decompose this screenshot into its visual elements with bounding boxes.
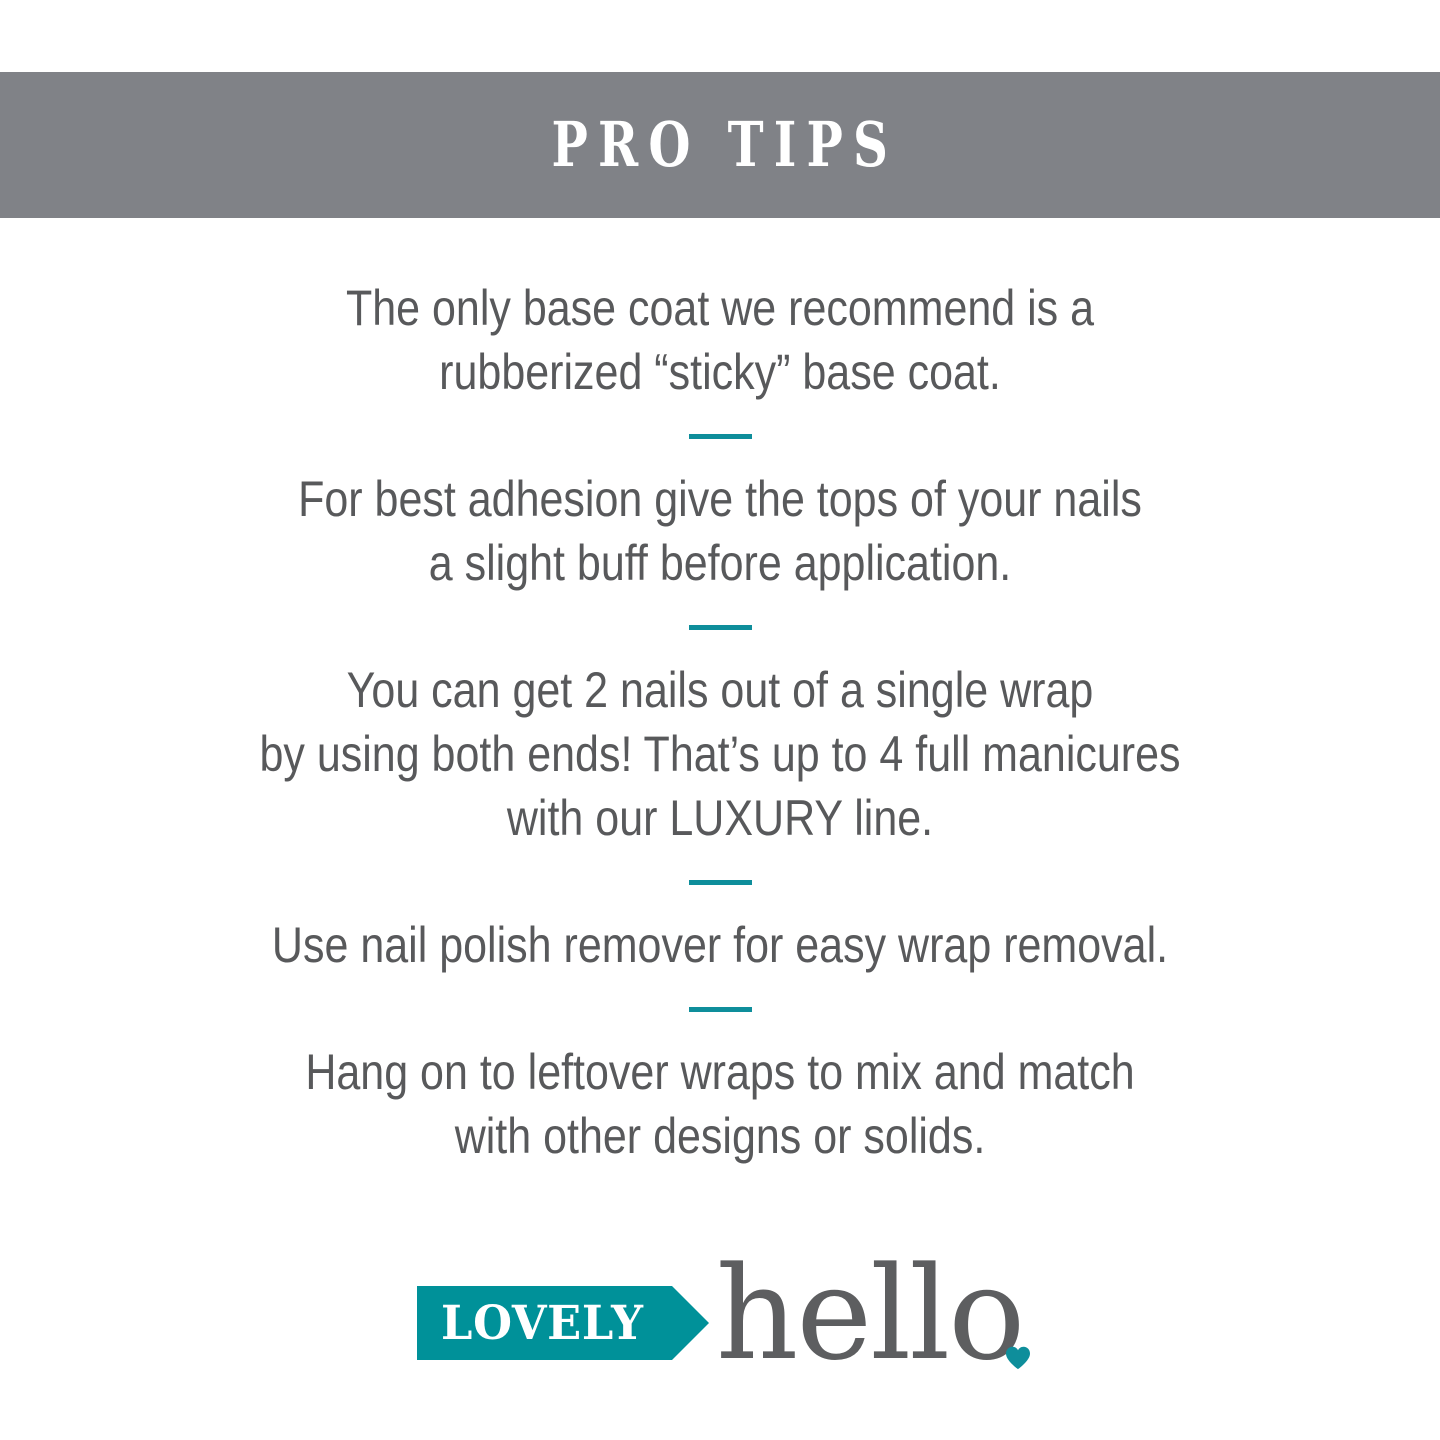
logo-inner: LOVELY hello — [417, 1260, 1024, 1370]
tip-divider — [689, 434, 752, 439]
header-band: PRO TIPS — [0, 72, 1440, 218]
tip-divider — [689, 625, 752, 630]
tip-item: The only base coat we recommend is a rub… — [213, 276, 1228, 404]
heart-icon — [1005, 1346, 1031, 1370]
lovely-badge-label: LOVELY — [441, 1300, 644, 1347]
tip-item: For best adhesion give the tops of your … — [213, 467, 1228, 595]
tip-divider — [689, 880, 752, 885]
tip-item: You can get 2 nails out of a single wrap… — [213, 658, 1228, 850]
page-title: PRO TIPS — [542, 114, 899, 176]
lovely-badge: LOVELY — [417, 1286, 672, 1360]
hello-wordmark-wrap: hello — [716, 1254, 1024, 1377]
pro-tips-card: PRO TIPS The only base coat we recommend… — [0, 0, 1440, 1440]
tip-item: Use nail polish remover for easy wrap re… — [213, 913, 1228, 977]
tip-divider — [689, 1007, 752, 1012]
brand-logo: LOVELY hello — [0, 1255, 1440, 1375]
tip-item: Hang on to leftover wraps to mix and mat… — [213, 1040, 1228, 1168]
tips-list: The only base coat we recommend is a rub… — [0, 218, 1440, 1218]
hello-wordmark: hello — [716, 1254, 1024, 1377]
